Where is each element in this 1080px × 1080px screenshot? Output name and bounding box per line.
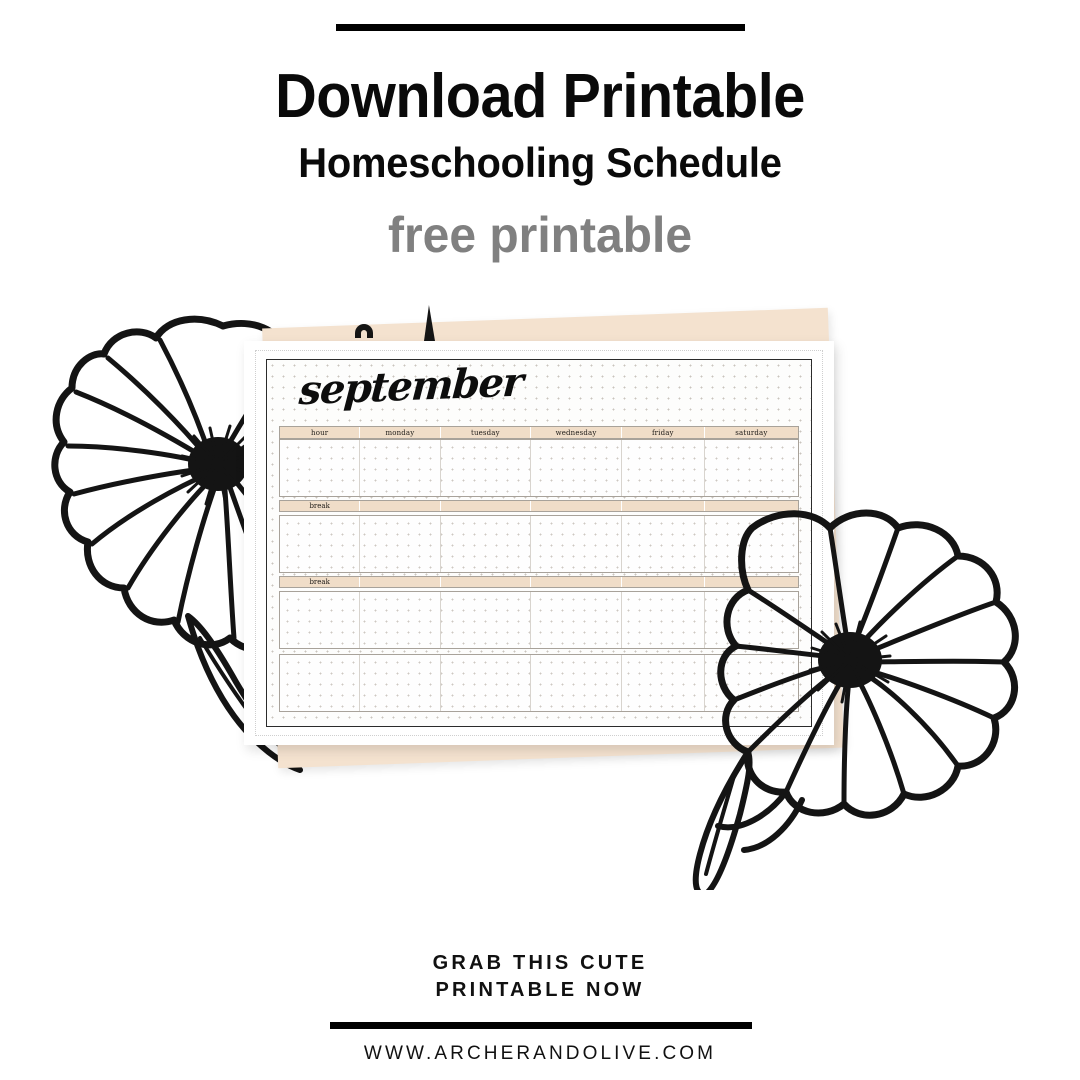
planner-cell[interactable]	[705, 592, 798, 648]
planner-cell[interactable]	[441, 592, 532, 648]
planner-cell[interactable]	[531, 516, 622, 572]
break-cell	[360, 501, 440, 511]
planner-cell[interactable]	[622, 592, 705, 648]
planner-content: september hour monday tuesday wednesday …	[267, 360, 811, 726]
planner-write-block[interactable]	[279, 654, 799, 712]
planner-cell[interactable]	[360, 655, 440, 711]
break-cell	[531, 501, 622, 511]
planner-cell[interactable]	[280, 592, 360, 648]
break-cell	[705, 501, 798, 511]
break-cell	[441, 501, 532, 511]
column-header-saturday: saturday	[705, 427, 798, 438]
column-header-monday: monday	[360, 427, 440, 438]
planner-cell[interactable]	[531, 440, 622, 496]
column-header-tuesday: tuesday	[441, 427, 532, 438]
planner-cell[interactable]	[622, 516, 705, 572]
planner-break-row: break	[279, 500, 799, 512]
planner-cell[interactable]	[441, 516, 532, 572]
planner-write-block[interactable]	[279, 515, 799, 573]
planner-header-row: hour monday tuesday wednesday friday sat…	[279, 426, 799, 439]
printable-planner-page: september hour monday tuesday wednesday …	[244, 341, 834, 745]
column-header-wednesday: wednesday	[531, 427, 622, 438]
planner-cell[interactable]	[280, 516, 360, 572]
planner-break-row: break	[279, 576, 799, 588]
footer-cta-line1: GRAB THIS CUTE	[0, 950, 1080, 977]
planner-inner-frame: september hour monday tuesday wednesday …	[266, 359, 812, 727]
planner-cell[interactable]	[441, 440, 532, 496]
decor-tip-arch	[355, 324, 373, 338]
poster-canvas: Download Printable Homeschooling Schedul…	[0, 0, 1080, 1080]
planner-cell[interactable]	[531, 592, 622, 648]
planner-write-block[interactable]	[279, 591, 799, 649]
rule-bottom-divider	[330, 1022, 752, 1029]
break-cell	[622, 501, 705, 511]
footer-cta: GRAB THIS CUTE PRINTABLE NOW	[0, 950, 1080, 1004]
break-cell	[622, 577, 705, 587]
planner-cell[interactable]	[280, 440, 360, 496]
planner-cell[interactable]	[705, 655, 798, 711]
column-header-hour: hour	[280, 427, 360, 438]
planner-cell[interactable]	[360, 440, 440, 496]
planner-grid: hour monday tuesday wednesday friday sat…	[279, 426, 799, 712]
break-cell	[360, 577, 440, 587]
planner-cell[interactable]	[622, 440, 705, 496]
column-header-friday: friday	[622, 427, 705, 438]
footer-website-url: WWW.ARCHERANDOLIVE.COM	[0, 1043, 1080, 1065]
planner-cell[interactable]	[705, 440, 798, 496]
break-cell	[531, 577, 622, 587]
mockup-scene: september hour monday tuesday wednesday …	[0, 0, 1080, 1080]
break-label: break	[280, 577, 360, 587]
break-label: break	[280, 501, 360, 511]
footer-cta-line2: PRINTABLE NOW	[0, 977, 1080, 1004]
planner-cell[interactable]	[360, 516, 440, 572]
planner-write-block[interactable]	[279, 439, 799, 497]
planner-cell[interactable]	[705, 516, 798, 572]
planner-cell[interactable]	[531, 655, 622, 711]
planner-cell[interactable]	[441, 655, 532, 711]
planner-cell[interactable]	[360, 592, 440, 648]
break-cell	[441, 577, 532, 587]
planner-cell[interactable]	[622, 655, 705, 711]
break-cell	[705, 577, 798, 587]
planner-cell[interactable]	[280, 655, 360, 711]
